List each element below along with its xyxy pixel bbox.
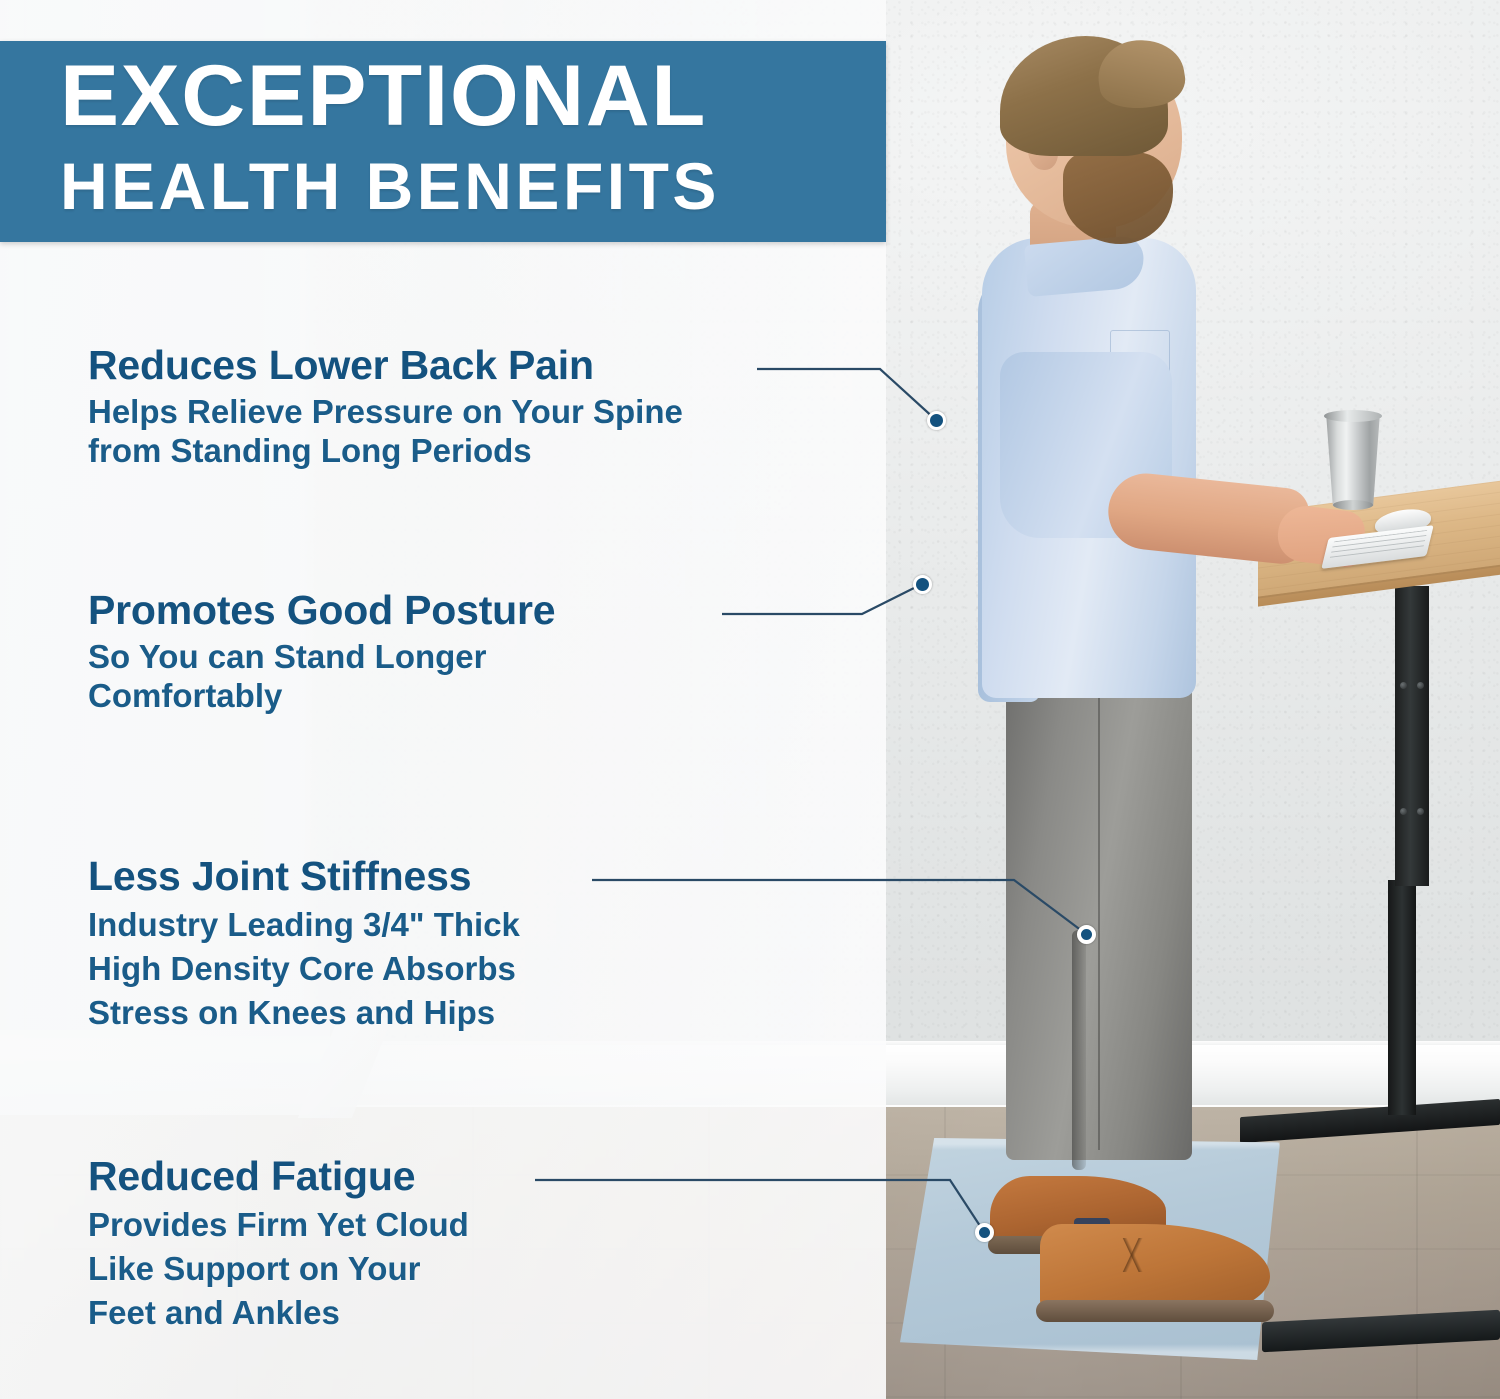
benefit-body-1: Helps Relieve Pressure on Your Spine fro… — [88, 392, 683, 471]
pants-seam — [1098, 680, 1100, 1150]
callout-dot-back — [927, 411, 946, 430]
benefit-block-2: Promotes Good Posture So You can Stand L… — [88, 589, 555, 716]
callout-dot-mat — [975, 1223, 994, 1242]
desk-leg-upper — [1395, 586, 1429, 886]
callout-dot-knee — [1077, 925, 1096, 944]
header-title-line2: HEALTH BENEFITS — [60, 153, 720, 219]
desk-bolt-icon — [1417, 682, 1424, 689]
pants-leg-shadow — [1072, 930, 1086, 1170]
shoe-laces — [1104, 1238, 1166, 1272]
benefit-body-line: Like Support on Your — [88, 1247, 469, 1291]
benefit-body-4: Provides Firm Yet Cloud Like Support on … — [88, 1203, 469, 1336]
benefit-body-line: So You can Stand Longer — [88, 637, 555, 677]
benefit-body-line: Stress on Knees and Hips — [88, 991, 520, 1035]
benefit-body-line: Industry Leading 3/4" Thick — [88, 903, 520, 947]
steel-tumbler — [1325, 414, 1381, 506]
desk-bolt-icon — [1400, 808, 1407, 815]
benefit-title-4: Reduced Fatigue — [88, 1155, 469, 1198]
benefit-body-line: Feet and Ankles — [88, 1291, 469, 1335]
tumbler-rim — [1324, 410, 1382, 422]
desk-bolt-icon — [1417, 808, 1424, 815]
benefit-body-3: Industry Leading 3/4" Thick High Density… — [88, 903, 520, 1036]
benefit-block-1: Reduces Lower Back Pain Helps Relieve Pr… — [88, 344, 683, 471]
benefit-title-2: Promotes Good Posture — [88, 589, 555, 632]
product-infographic: EXCEPTIONAL HEALTH BENEFITS Reduces Lowe… — [0, 0, 1500, 1399]
benefit-body-2: So You can Stand Longer Comfortably — [88, 637, 555, 716]
benefit-block-4: Reduced Fatigue Provides Firm Yet Cloud … — [88, 1155, 469, 1335]
tumbler-base — [1333, 500, 1373, 510]
benefit-body-line: Comfortably — [88, 676, 555, 716]
desk-bolt-icon — [1400, 682, 1407, 689]
shoe-front-sole — [1036, 1300, 1274, 1322]
benefit-body-line: Helps Relieve Pressure on Your Spine — [88, 392, 683, 432]
benefit-body-line: High Density Core Absorbs — [88, 947, 520, 991]
header-banner: EXCEPTIONAL HEALTH BENEFITS — [0, 41, 886, 242]
desk-leg-lower — [1388, 880, 1416, 1115]
benefit-body-line: from Standing Long Periods — [88, 431, 683, 471]
callout-dot-posture — [913, 575, 932, 594]
benefit-title-1: Reduces Lower Back Pain — [88, 344, 683, 387]
benefit-block-3: Less Joint Stiffness Industry Leading 3/… — [88, 855, 520, 1035]
benefit-body-line: Provides Firm Yet Cloud — [88, 1203, 469, 1247]
benefit-title-3: Less Joint Stiffness — [88, 855, 520, 898]
header-title-line1: EXCEPTIONAL — [60, 55, 707, 138]
